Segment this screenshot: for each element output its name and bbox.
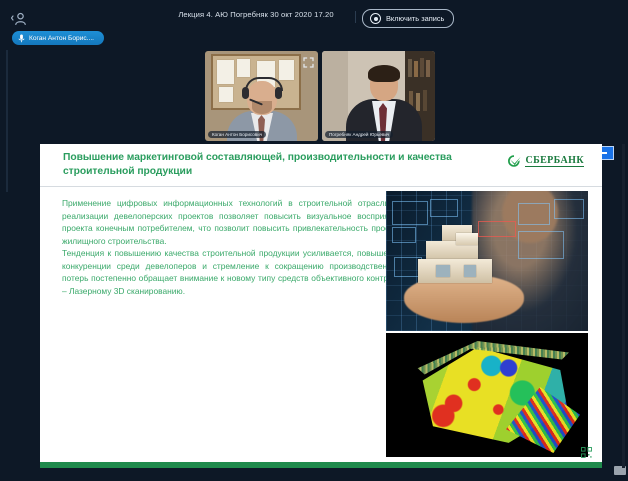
participants-icon[interactable] [10,10,30,28]
meeting-topbar: Лекция 4. АЮ Погребняк 30 окт 2020 17.20… [0,0,628,47]
sberbank-swoosh-icon [507,154,521,168]
slide-paragraph: Применение цифровых информационных техно… [62,197,402,247]
fullscreen-icon[interactable] [303,55,314,66]
tile-1-headset-left [242,87,249,99]
microphone-icon [18,34,25,43]
slide-body: Применение цифровых информационных техно… [40,187,602,463]
video-tile-strip: Коган Антон Борисович Погребняк Андрей Ю… [205,51,435,141]
tile-2-door [322,51,348,141]
slide-text-block: Применение цифровых информационных техно… [62,197,402,297]
record-dot-icon [370,13,381,24]
conference-app: Лекция 4. АЮ Погребняк 30 окт 2020 17.20… [0,0,628,481]
qr-code-icon[interactable] [581,445,592,456]
tile-2-hair [368,65,400,82]
sberbank-logo: СБЕРБАНК [507,154,584,168]
hand-holding-3d-house-model-blueprint-photo [386,191,588,331]
tile-1-headset-right [275,87,282,99]
shared-slide[interactable]: Повышение маркетинговой составляющей, пр… [40,144,602,468]
topbar-divider [355,11,356,23]
slide-header: Повышение маркетинговой составляющей, пр… [40,144,602,187]
slide-paragraph: Тенденция к повышению качества строитель… [62,247,402,297]
video-tile-name: Погребняк Андрей Юрьевич [325,131,393,138]
meeting-title: Лекция 4. АЮ Погребняк 30 окт 2020 17.20 [0,10,628,19]
active-speaker-name: Коган Антон Борис.... [29,35,94,42]
start-recording-button[interactable]: Включить запись [362,9,454,28]
sberbank-wordmark: СБЕРБАНК [525,155,584,168]
video-tile-name: Коган Антон Борисович [208,131,266,138]
video-tile[interactable]: Коган Антон Борисович [205,51,318,141]
slide-footer-bar [40,462,602,468]
left-scroll-rail[interactable] [6,50,8,192]
video-tile[interactable]: Погребняк Андрей Юрьевич [322,51,435,141]
active-speaker-chip[interactable]: Коган Антон Борис.... [12,31,104,45]
laser-scan-deviation-heatmap-photo [386,333,588,457]
page-title: Повышение маркетинговой составляющей, пр… [63,151,463,179]
meeting-title-text: Лекция 4. АЮ Погребняк 30 окт 2020 17.20 [178,10,333,19]
start-recording-label: Включить запись [386,14,444,23]
right-scroll-rail[interactable] [622,144,625,468]
